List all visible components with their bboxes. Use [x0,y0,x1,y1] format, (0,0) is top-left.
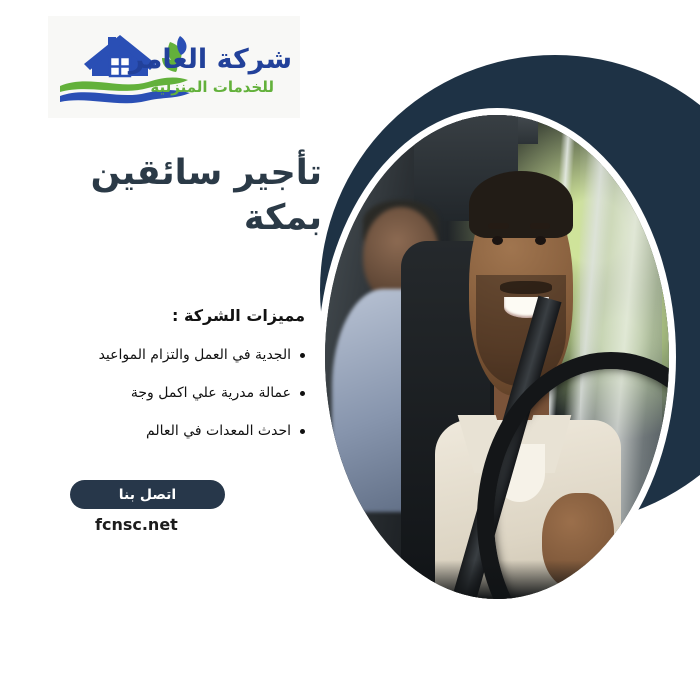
contact-us-button[interactable]: اتصل بنا [70,480,225,509]
photo-bottom-shade [325,560,669,599]
logo-wrapper: شركة العامر للخدمات المنزلية [48,16,300,118]
feature-text: احدث المعدات في العالم [146,423,291,439]
features-block: مميزات الشركة : الجدية في العمل والتزام … [99,306,305,461]
driver-brow-right [530,223,551,228]
list-item: عمالة مدرية علي اكمل وجة [99,385,305,401]
driver-mustache [500,281,552,294]
company-logo: شركة العامر للخدمات المنزلية [48,16,300,118]
driver-hair [469,171,572,239]
website-url[interactable]: fcnsc.net [95,515,178,534]
driver-eye-left [492,236,503,245]
logo-company-name: شركة العامر [129,44,292,75]
bullet-icon [300,391,305,396]
page-title: تأجير سائقين بمكة [91,151,322,241]
list-item: احدث المعدات في العالم [99,423,305,439]
driver-brow-left [488,223,509,228]
driver-eye-right [535,236,546,245]
bullet-icon [300,429,305,434]
poster-canvas: شركة العامر للخدمات المنزلية تأجير سائقي… [0,0,700,700]
logo-tagline: للخدمات المنزلية [150,78,274,96]
feature-text: عمالة مدرية علي اكمل وجة [131,385,291,401]
list-item: الجدية في العمل والتزام المواعيد [99,347,305,363]
features-title: مميزات الشركة : [99,306,305,325]
feature-text: الجدية في العمل والتزام المواعيد [99,347,291,363]
driver-photo-scene [325,115,669,599]
bullet-icon [300,353,305,358]
driver-photo [325,115,669,599]
